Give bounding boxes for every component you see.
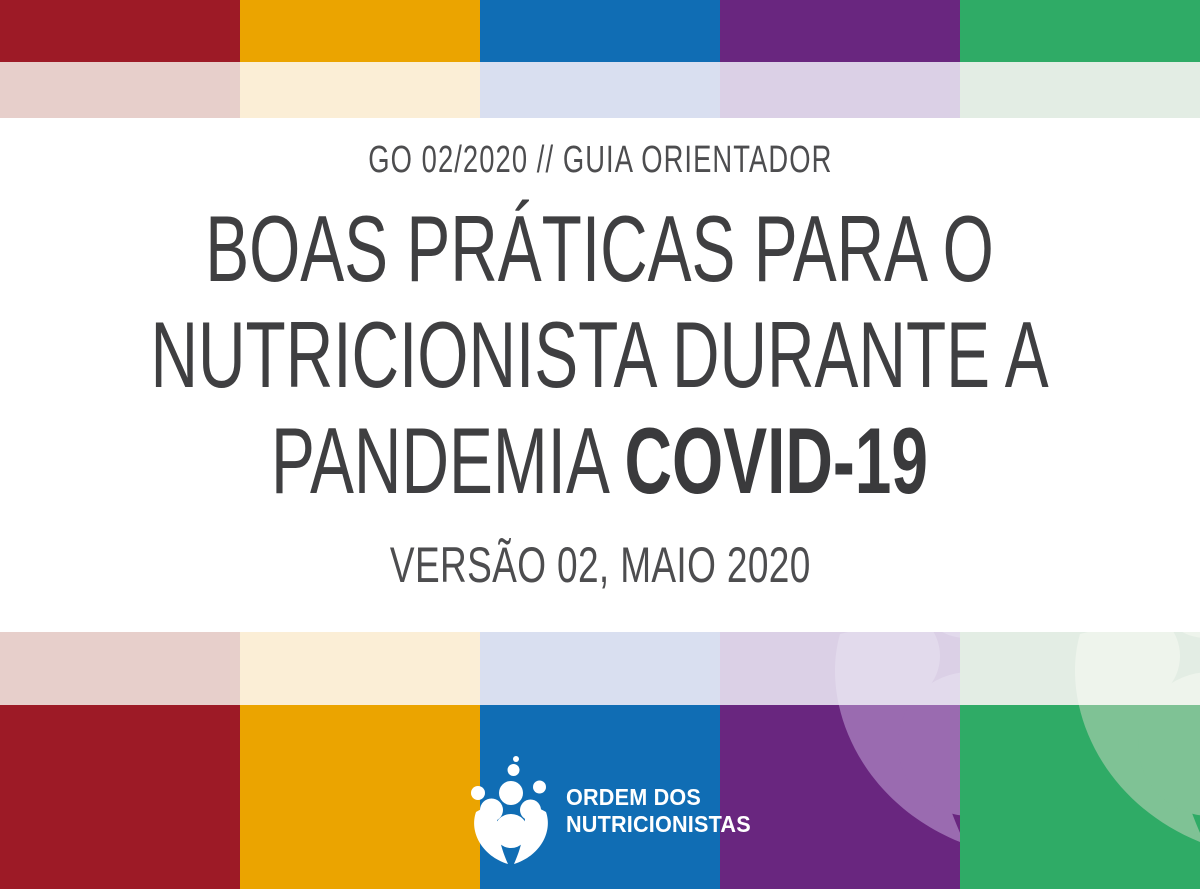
title-line-1: BOAS PRÁTICAS PARA O [151, 196, 1049, 302]
document-version: VERSÃO 02, MAIO 2020 [390, 536, 811, 594]
logo-wordmark-line-1: ORDEM DOS [566, 784, 701, 810]
band-swatch-green [960, 0, 1200, 62]
top-color-band-dark [0, 0, 1200, 62]
title-line-2: NUTRICIONISTA DURANTE A [151, 302, 1049, 408]
band-swatch-red-bottom [0, 705, 240, 889]
page-title: BOAS PRÁTICAS PARA O NUTRICIONISTA DURAN… [0, 196, 1200, 515]
band-swatch-red-light [0, 62, 240, 118]
bottom-color-band-light [0, 632, 1200, 705]
top-color-band-light [0, 62, 1200, 118]
band-swatch-green-light [960, 62, 1200, 118]
band-swatch-red [0, 0, 240, 62]
band-swatch-blue [480, 0, 720, 62]
logo-mark-icon [468, 756, 554, 866]
band-swatch-green-bottom [960, 705, 1200, 889]
band-swatch-blue-light-bottom [480, 632, 720, 705]
ordem-dos-nutricionistas-logo: ORDEM DOS NUTRICIONISTAS [468, 755, 748, 867]
band-swatch-yellow-bottom [240, 705, 480, 889]
bubbles-hands-icon [468, 756, 554, 866]
band-swatch-red-light-bottom [0, 632, 240, 705]
cover-page: GO 02/2020 // GUIA ORIENTADOR BOAS PRÁTI… [0, 0, 1200, 889]
band-swatch-purple-light [720, 62, 960, 118]
band-swatch-purple-bottom [720, 705, 960, 889]
band-swatch-yellow-light [240, 62, 480, 118]
title-line-3-light: PANDEMIA [272, 408, 625, 513]
title-block: GO 02/2020 // GUIA ORIENTADOR BOAS PRÁTI… [0, 118, 1200, 632]
band-swatch-green-light-bottom [960, 632, 1200, 705]
band-swatch-yellow [240, 0, 480, 62]
title-line-3-bold: COVID-19 [625, 408, 928, 513]
logo-wordmark-line-2: NUTRICIONISTAS [566, 811, 751, 838]
band-swatch-purple [720, 0, 960, 62]
logo-wordmark: ORDEM DOS NUTRICIONISTAS [566, 784, 751, 837]
band-swatch-blue-light [480, 62, 720, 118]
band-swatch-yellow-light-bottom [240, 632, 480, 705]
document-kicker: GO 02/2020 // GUIA ORIENTADOR [368, 140, 832, 182]
title-line-3: PANDEMIA COVID-19 [151, 408, 1049, 514]
band-swatch-purple-light-bottom [720, 632, 960, 705]
